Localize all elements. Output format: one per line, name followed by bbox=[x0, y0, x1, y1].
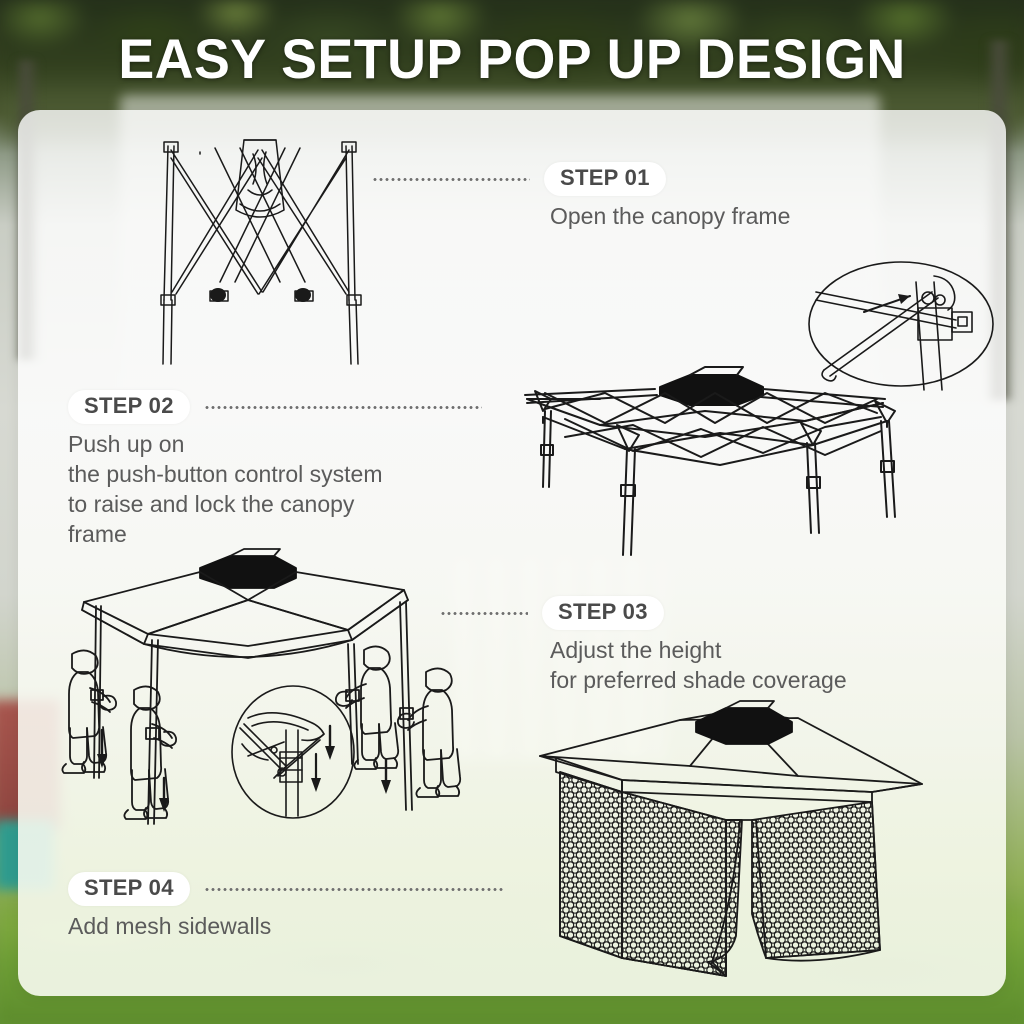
step-03-badge: STEP 03 bbox=[542, 596, 664, 630]
step-04-badge: STEP 04 bbox=[68, 872, 190, 906]
step-02-header: STEP 02 bbox=[68, 390, 482, 424]
step-04: STEP 04 Add mesh sidewalls bbox=[68, 872, 504, 941]
step-03-header: STEP 03 bbox=[440, 596, 847, 630]
step-04-description: Add mesh sidewalls bbox=[68, 911, 504, 941]
dot-leader bbox=[204, 406, 482, 409]
step-01: STEP 01 Open the canopy frame bbox=[372, 162, 790, 231]
step-04-header: STEP 04 bbox=[68, 872, 504, 906]
dot-leader bbox=[440, 612, 528, 615]
step-01-description: Open the canopy frame bbox=[550, 201, 790, 231]
dot-leader bbox=[204, 888, 504, 891]
page-title: EASY SETUP POP UP DESIGN bbox=[20, 26, 1003, 91]
inset-height-adjust-detail bbox=[228, 684, 358, 820]
step-02-badge: STEP 02 bbox=[68, 390, 190, 424]
step-03-description: Adjust the height for preferred shade co… bbox=[550, 635, 847, 695]
dot-leader bbox=[372, 178, 530, 181]
step-02: STEP 02 Push up on the push-button contr… bbox=[68, 390, 482, 549]
step-01-header: STEP 01 bbox=[372, 162, 790, 196]
step-01-badge: STEP 01 bbox=[544, 162, 666, 196]
illustration-gazebo-with-mesh-sidewalls bbox=[530, 700, 950, 1000]
step-03: STEP 03 Adjust the height for preferred … bbox=[440, 596, 847, 695]
infographic-canvas: EASY SETUP POP UP DESIGN bbox=[0, 0, 1024, 1024]
illustration-folded-canopy-frame bbox=[140, 132, 380, 372]
step-02-description: Push up on the push-button control syste… bbox=[68, 429, 482, 549]
illustration-expanded-canopy-frame bbox=[505, 365, 905, 545]
